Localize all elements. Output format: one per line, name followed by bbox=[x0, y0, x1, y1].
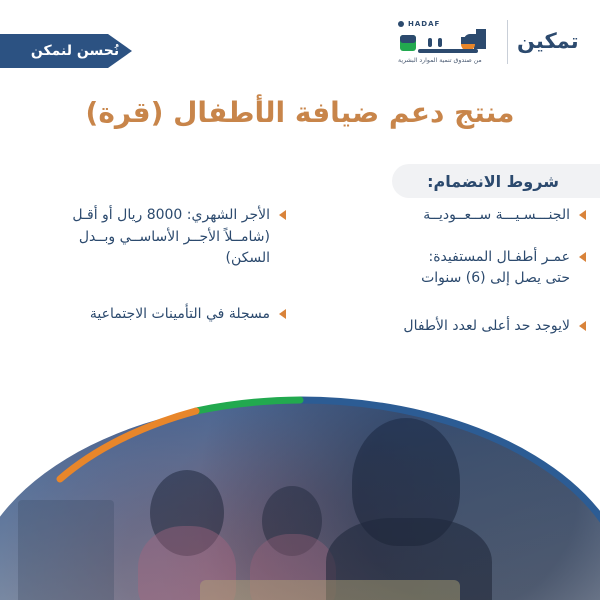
photo-arch-mask bbox=[0, 350, 600, 600]
bullet-arrow-icon bbox=[579, 210, 586, 220]
conditions-heading-label: شروط الانضمام: bbox=[427, 172, 565, 191]
list-item-line: (شامــلاً الأجــر الأساســي وبــدل bbox=[14, 227, 270, 249]
conditions-heading-pill: شروط الانضمام: bbox=[392, 164, 600, 198]
list-item-line: حتى يصل إلى (6) سنوات bbox=[314, 268, 570, 290]
list-item-line: عمـر أطفـال المستفيدة: bbox=[314, 247, 570, 269]
list-item: عمـر أطفـال المستفيدة: حتى يصل إلى (6) س… bbox=[314, 247, 586, 290]
dot-icon bbox=[398, 21, 404, 27]
conditions-columns: الجنـــسـيـــة ســعــوديــة عمـر أطفـال … bbox=[0, 205, 600, 355]
list-item: الجنـــسـيـــة ســعــوديــة bbox=[314, 205, 586, 227]
hadaf-logo: HADAF من صندوق تنمية الموارد البشرية bbox=[398, 20, 498, 64]
list-item-line: السكن) bbox=[14, 248, 270, 270]
bullet-arrow-icon bbox=[279, 309, 286, 319]
hadaf-wordmark-icon bbox=[398, 29, 498, 56]
hadaf-latin-label: HADAF bbox=[408, 20, 440, 28]
logo-divider bbox=[507, 20, 508, 64]
bullet-arrow-icon bbox=[279, 210, 286, 220]
photo-blue-overlay bbox=[0, 350, 600, 600]
list-item-text: مسجلة في التأمينات الاجتماعية bbox=[14, 304, 270, 326]
list-item-line: لايوجد حد أعلى لعدد الأطفال bbox=[314, 316, 570, 338]
list-item-line: مسجلة في التأمينات الاجتماعية bbox=[14, 304, 270, 326]
list-item-line: الجنـــسـيـــة ســعــوديــة bbox=[314, 205, 570, 227]
page-title: منتج دعم ضيافة الأطفال (قرة) bbox=[0, 96, 600, 129]
bullet-arrow-icon bbox=[579, 321, 586, 331]
hadaf-logo-subtitle: من صندوق تنمية الموارد البشرية bbox=[398, 57, 482, 64]
list-item: مسجلة في التأمينات الاجتماعية bbox=[14, 304, 286, 326]
list-item-text: عمـر أطفـال المستفيدة: حتى يصل إلى (6) س… bbox=[314, 247, 570, 290]
list-item-text: لايوجد حد أعلى لعدد الأطفال bbox=[314, 316, 570, 338]
hadaf-logo-top-row: HADAF bbox=[398, 20, 440, 28]
list-item-text: الجنـــسـيـــة ســعــوديــة bbox=[314, 205, 570, 227]
photo-section: Hrdfksa bbox=[0, 350, 600, 600]
list-item-line: الأجر الشهري: 8000 ريال أو أقـل bbox=[14, 205, 270, 227]
list-item-text: الأجر الشهري: 8000 ريال أو أقـل (شامــلا… bbox=[14, 205, 270, 270]
brand-logo: تمكين HADAF من صندوق تنمية الموار bbox=[398, 12, 590, 72]
conditions-left-column: الأجر الشهري: 8000 ريال أو أقـل (شامــلا… bbox=[0, 205, 300, 355]
bullet-arrow-icon bbox=[579, 252, 586, 262]
header: نُحسن لنمكن تمكين HADAF bbox=[0, 0, 600, 88]
logo-tamkeen-label: تمكين bbox=[517, 31, 579, 54]
conditions-right-column: الجنـــسـيـــة ســعــوديــة عمـر أطفـال … bbox=[300, 205, 600, 355]
list-item: الأجر الشهري: 8000 ريال أو أقـل (شامــلا… bbox=[14, 205, 286, 270]
tagline-badge: نُحسن لنمكن bbox=[0, 34, 132, 68]
list-item: لايوجد حد أعلى لعدد الأطفال bbox=[314, 316, 586, 338]
tagline-badge-label: نُحسن لنمكن bbox=[13, 43, 119, 59]
